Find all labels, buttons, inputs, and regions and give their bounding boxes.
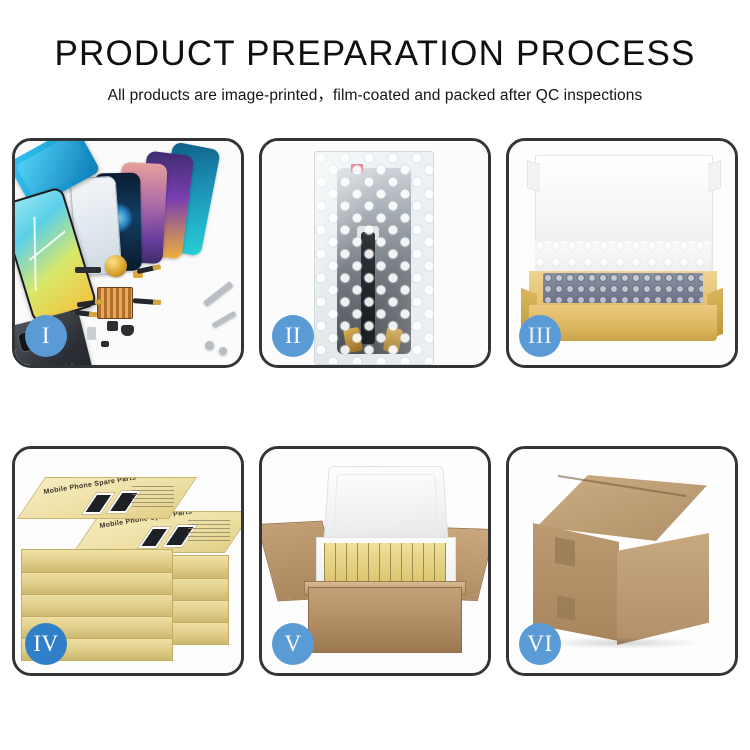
- screw: [219, 347, 227, 355]
- step-badge-5: V: [272, 623, 314, 665]
- process-step-panel-4[interactable]: Mobile Phone Spare Parts Mobile Phone Sp…: [12, 446, 244, 676]
- page-subtitle: All products are image-printed，film-coat…: [0, 83, 750, 105]
- step-badge-2: II: [272, 315, 314, 357]
- small-part-chip: [121, 325, 134, 336]
- carton-tape-mark: [555, 537, 575, 567]
- small-part-chip: [87, 327, 96, 340]
- plastic-sheen: [315, 152, 433, 364]
- carton-shadow: [537, 637, 707, 649]
- foam-lid-open: [323, 466, 449, 548]
- retail-box-edge: [21, 549, 173, 573]
- process-step-panel-6[interactable]: VI: [506, 446, 738, 676]
- process-step-panel-5[interactable]: V: [259, 446, 491, 676]
- step-badge-4: IV: [25, 623, 67, 665]
- gold-component: [105, 255, 127, 277]
- step-badge-6: VI: [519, 623, 561, 665]
- page-header: PRODUCT PREPARATION PROCESS All products…: [0, 0, 750, 105]
- bubble-wrap-fill: [543, 273, 703, 303]
- page-title: PRODUCT PREPARATION PROCESS: [0, 36, 750, 73]
- process-step-panel-1[interactable]: I: [12, 138, 244, 368]
- retail-box-edge: [21, 593, 173, 617]
- process-step-panel-3[interactable]: III: [506, 138, 738, 368]
- small-part-chip: [101, 341, 109, 347]
- small-part-chip: [107, 321, 118, 331]
- screw: [205, 341, 214, 350]
- step-badge-1: I: [25, 315, 67, 357]
- process-step-panel-2[interactable]: II: [259, 138, 491, 368]
- carton-body: [308, 587, 462, 653]
- retail-box-top-front: Mobile Phone Spare Parts: [17, 477, 197, 519]
- spec-text-lines: [188, 520, 230, 544]
- process-steps-grid: I II: [12, 138, 738, 676]
- step-badge-3: III: [519, 315, 561, 357]
- retail-box-edge: [21, 571, 173, 595]
- spec-text-lines: [132, 486, 174, 510]
- carton-tape-mark: [557, 595, 575, 620]
- bubble-wrap-bag: [314, 151, 434, 365]
- small-part-chip: [75, 267, 101, 273]
